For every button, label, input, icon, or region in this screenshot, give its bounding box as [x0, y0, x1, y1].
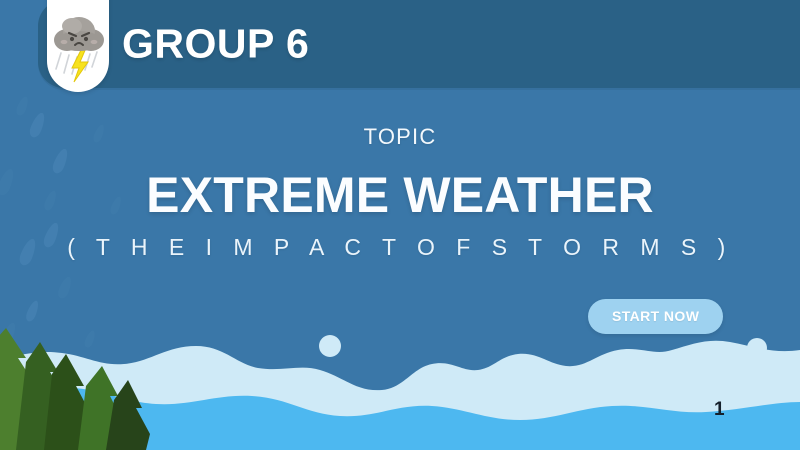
header-banner-content: GROUP 6 [38, 0, 800, 88]
bottom-scenery [0, 320, 800, 450]
foam-bubble [747, 338, 767, 358]
page-number: 1 [714, 400, 725, 419]
storm-cloud-badge [47, 0, 109, 92]
topic-eyebrow: TOPIC [0, 126, 800, 148]
page-subtitle: ( T H E I M P A C T O F S T O R M S ) [0, 236, 800, 259]
group-title: GROUP 6 [122, 24, 309, 65]
foam-bubble [170, 351, 200, 369]
pine-tree-group [0, 328, 150, 450]
title-block: TOPIC EXTREME WEATHER ( T H E I M P A C … [0, 126, 800, 259]
raindrop-icon [56, 275, 74, 300]
raindrop-icon [15, 95, 31, 117]
foam-bubble [319, 335, 341, 357]
title-slide: GROUP 6 [0, 0, 800, 450]
page-title: EXTREME WEATHER [0, 170, 800, 220]
header-banner: GROUP 6 [38, 0, 800, 88]
